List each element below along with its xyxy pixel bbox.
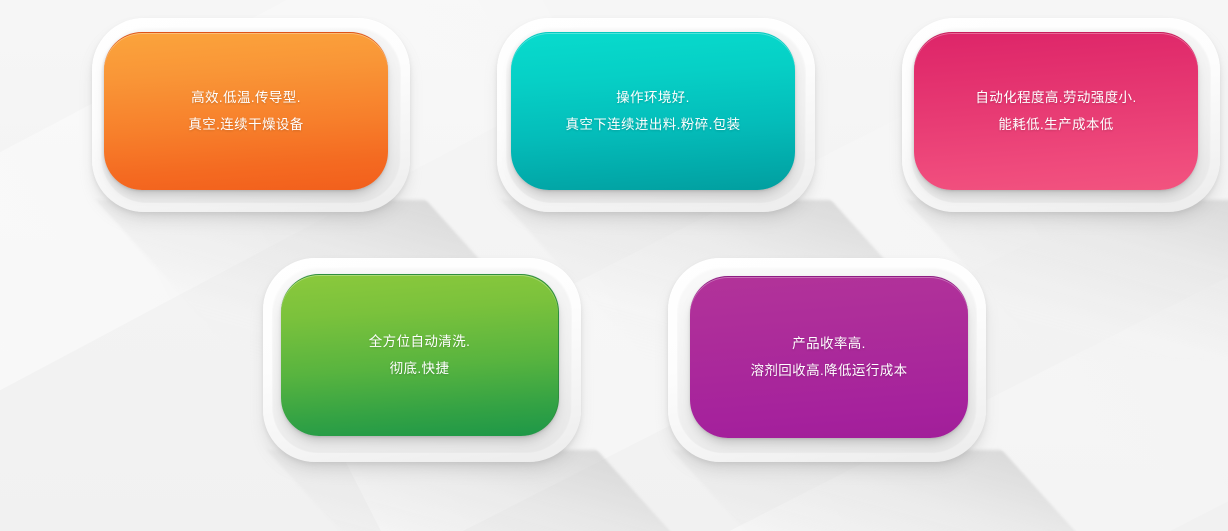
card-text: 高效.低温.传导型. 真空.连续干燥设备 — [174, 85, 317, 138]
infographic-stage: 高效.低温.传导型. 真空.连续干燥设备 操作环境好. 真空下连续进出料.粉碎.… — [0, 0, 1228, 531]
feature-card-environment[interactable]: 操作环境好. 真空下连续进出料.粉碎.包装 — [497, 18, 815, 212]
cast-shadow-card-3 — [267, 450, 732, 531]
card-color-panel: 自动化程度高.劳动强度小. 能耗低.生产成本低 — [914, 32, 1198, 190]
feature-card-efficiency[interactable]: 高效.低温.传导型. 真空.连续干燥设备 — [92, 18, 410, 212]
card-text: 产品收率高. 溶剂回收高.降低运行成本 — [736, 331, 921, 384]
feature-card-automation[interactable]: 自动化程度高.劳动强度小. 能耗低.生产成本低 — [902, 18, 1220, 212]
card-text: 自动化程度高.劳动强度小. 能耗低.生产成本低 — [961, 85, 1150, 138]
card-text: 全方位自动清洗. 彻底.快捷 — [355, 329, 484, 382]
card-color-panel: 全方位自动清洗. 彻底.快捷 — [281, 274, 559, 436]
cast-shadow-card-4 — [672, 450, 1137, 531]
feature-card-yield[interactable]: 产品收率高. 溶剂回收高.降低运行成本 — [668, 258, 986, 462]
card-color-panel: 产品收率高. 溶剂回收高.降低运行成本 — [690, 276, 968, 438]
feature-card-cleaning[interactable]: 全方位自动清洗. 彻底.快捷 — [263, 258, 581, 462]
card-color-panel: 操作环境好. 真空下连续进出料.粉碎.包装 — [511, 32, 795, 190]
card-color-panel: 高效.低温.传导型. 真空.连续干燥设备 — [104, 32, 388, 190]
card-text: 操作环境好. 真空下连续进出料.粉碎.包装 — [551, 85, 754, 138]
